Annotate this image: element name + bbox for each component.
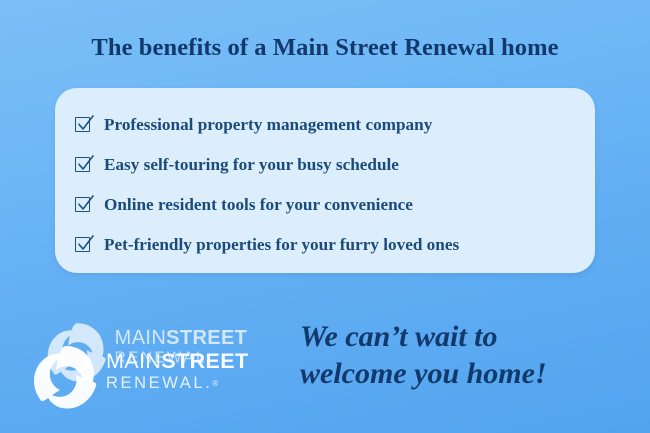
checkbox-checked-icon xyxy=(75,117,92,134)
brand-wordmark-main: MAINSTREET xyxy=(106,350,286,373)
list-item-label: Online resident tools for your convenien… xyxy=(104,195,413,215)
check-glyph xyxy=(78,197,94,212)
brand-word-main: MAIN xyxy=(106,349,161,373)
checkbox-checked-icon xyxy=(75,237,92,254)
check-glyph xyxy=(78,157,94,172)
list-item-label: Pet-friendly properties for your furry l… xyxy=(104,235,459,255)
list-item-label: Easy self-touring for your busy schedule xyxy=(104,155,399,175)
tagline-line-1: We can’t wait to xyxy=(300,318,630,355)
checkbox-checked-icon xyxy=(75,157,92,174)
tagline-line-2: welcome you home! xyxy=(300,355,630,392)
check-glyph xyxy=(78,237,94,252)
page-title: The benefits of a Main Street Renewal ho… xyxy=(0,34,650,62)
brand-word-street: STREET xyxy=(161,349,248,373)
brand-logo-front-copy: MAINSTREET RENEWAL.® xyxy=(30,336,285,433)
tagline: We can’t wait to welcome you home! xyxy=(300,318,630,392)
registered-mark-icon: ® xyxy=(212,379,218,388)
list-item: Pet-friendly properties for your furry l… xyxy=(55,226,595,264)
brand-logo: MAINSTREET RENEWAL. MAINSTREET xyxy=(30,322,285,422)
brand-word-renewal: RENEWAL xyxy=(106,374,205,392)
benefits-card: Professional property management company… xyxy=(55,88,595,273)
brand-wordmark: MAINSTREET RENEWAL.® xyxy=(106,350,286,394)
list-item-label: Professional property management company xyxy=(104,115,432,135)
promo-poster: The benefits of a Main Street Renewal ho… xyxy=(0,0,650,433)
list-item: Easy self-touring for your busy schedule xyxy=(55,146,595,184)
mainstreet-renewal-pinwheel-icon xyxy=(30,342,102,414)
list-item: Professional property management company xyxy=(55,106,595,144)
brand-wordmark-sub: RENEWAL.® xyxy=(106,373,286,394)
benefits-list: Professional property management company… xyxy=(55,106,595,266)
check-glyph xyxy=(78,117,94,132)
list-item: Online resident tools for your convenien… xyxy=(55,186,595,224)
checkbox-checked-icon xyxy=(75,197,92,214)
